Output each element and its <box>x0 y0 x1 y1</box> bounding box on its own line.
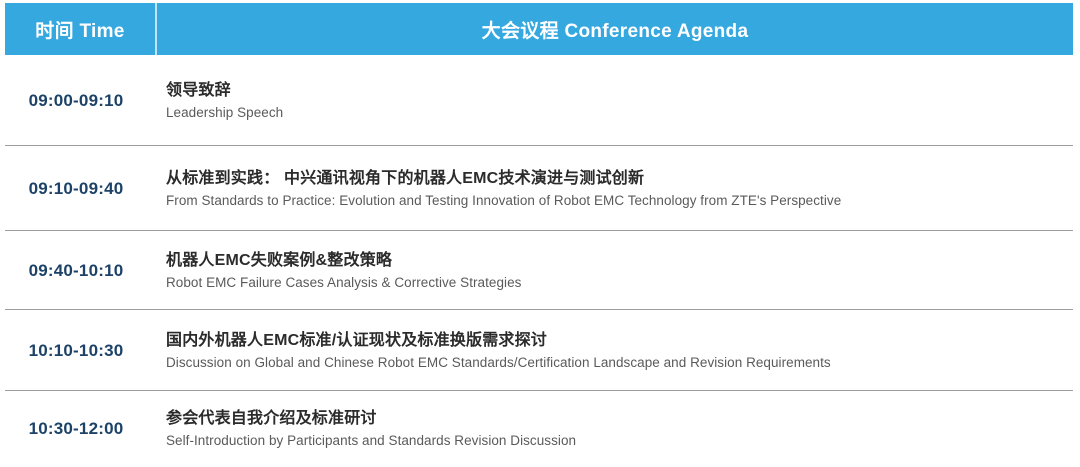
table-header-label-agenda: 大会议程 Conference Agenda <box>482 16 749 43</box>
table-header-label-time: 时间 Time <box>35 16 124 43</box>
table-row: 10:10-10:30 国内外机器人EMC标准/认证现状及标准换版需求探讨 Di… <box>0 310 1080 391</box>
session-time: 10:30-12:00 <box>29 419 124 439</box>
session-title-en: Leadership Speech <box>166 104 1060 122</box>
table-cell-time: 09:10-09:40 <box>0 179 152 199</box>
session-title-en: Discussion on Global and Chinese Robot E… <box>166 354 1060 372</box>
session-title-en: Self-Introduction by Participants and St… <box>166 432 1060 450</box>
table-cell-time: 10:10-10:30 <box>0 341 152 361</box>
session-title-en: From Standards to Practice: Evolution an… <box>166 192 1060 210</box>
session-title-cn: 从标准到实践： 中兴通讯视角下的机器人EMC技术演进与测试创新 <box>166 168 1060 190</box>
table-cell-time: 09:40-10:10 <box>0 261 152 281</box>
session-time: 09:10-09:40 <box>29 179 124 199</box>
table-cell-time: 09:00-09:10 <box>0 91 152 111</box>
table-cell-agenda: 参会代表自我介绍及标准研讨 Self-Introduction by Parti… <box>152 408 1080 449</box>
table-cell-time: 10:30-12:00 <box>0 419 152 439</box>
session-time: 09:00-09:10 <box>29 91 124 111</box>
table-row: 09:10-09:40 从标准到实践： 中兴通讯视角下的机器人EMC技术演进与测… <box>0 146 1080 231</box>
table-cell-agenda: 国内外机器人EMC标准/认证现状及标准换版需求探讨 Discussion on … <box>152 330 1080 371</box>
table-cell-agenda: 机器人EMC失败案例&整改策略 Robot EMC Failure Cases … <box>152 250 1080 291</box>
table-header-row: 时间 Time 大会议程 Conference Agenda <box>5 3 1073 55</box>
session-time: 09:40-10:10 <box>29 261 124 281</box>
session-title-cn: 机器人EMC失败案例&整改策略 <box>166 250 1060 272</box>
table-cell-agenda: 从标准到实践： 中兴通讯视角下的机器人EMC技术演进与测试创新 From Sta… <box>152 168 1080 209</box>
table-header-cell-time: 时间 Time <box>5 3 157 55</box>
conference-agenda-table: 时间 Time 大会议程 Conference Agenda 09:00-09:… <box>0 0 1080 467</box>
session-title-cn: 参会代表自我介绍及标准研讨 <box>166 408 1060 430</box>
table-row: 10:30-12:00 参会代表自我介绍及标准研讨 Self-Introduct… <box>0 391 1080 467</box>
table-row: 09:40-10:10 机器人EMC失败案例&整改策略 Robot EMC Fa… <box>0 231 1080 310</box>
session-time: 10:10-10:30 <box>29 341 124 361</box>
session-title-cn: 领导致辞 <box>166 80 1060 102</box>
table-cell-agenda: 领导致辞 Leadership Speech <box>152 80 1080 121</box>
table-header-cell-agenda: 大会议程 Conference Agenda <box>157 3 1073 55</box>
session-title-cn: 国内外机器人EMC标准/认证现状及标准换版需求探讨 <box>166 330 1060 352</box>
agenda-rows-container: 09:00-09:10 领导致辞 Leadership Speech 09:10… <box>0 55 1080 467</box>
table-row: 09:00-09:10 领导致辞 Leadership Speech <box>0 55 1080 146</box>
session-title-en: Robot EMC Failure Cases Analysis & Corre… <box>166 274 1060 292</box>
